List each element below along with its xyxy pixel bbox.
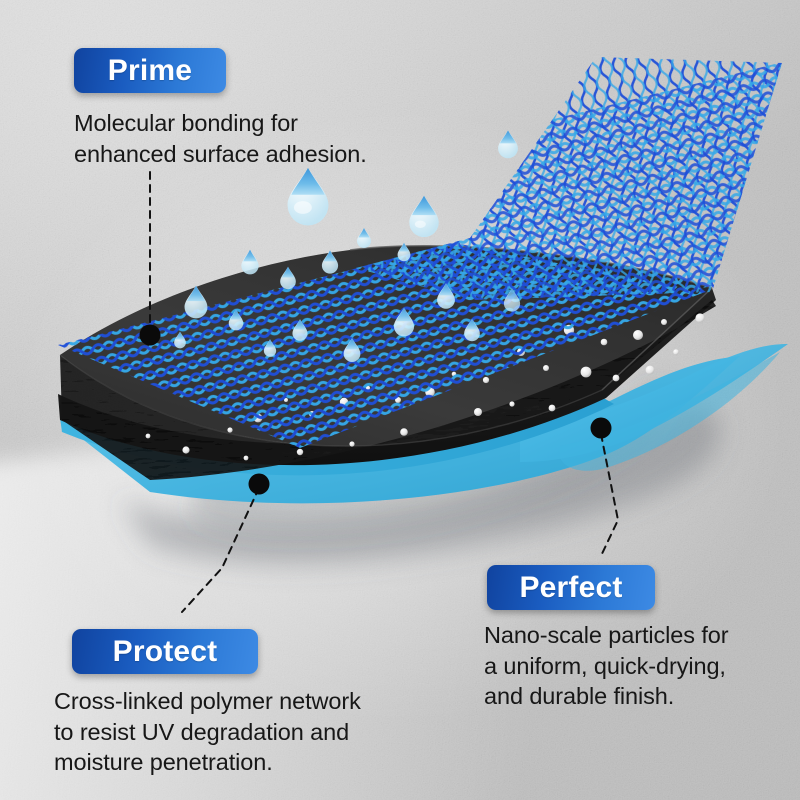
badge-perfect[interactable]: Perfect xyxy=(487,565,655,610)
badge-prime[interactable]: Prime xyxy=(74,48,226,93)
badge-protect[interactable]: Protect xyxy=(72,629,258,674)
infographic-canvas: Prime Molecular bonding for enhanced sur… xyxy=(0,0,800,800)
description-perfect: Nano-scale particles for a uniform, quic… xyxy=(484,620,800,712)
description-prime: Molecular bonding for enhanced surface a… xyxy=(74,108,424,169)
description-protect: Cross-linked polymer network to resist U… xyxy=(54,686,444,778)
